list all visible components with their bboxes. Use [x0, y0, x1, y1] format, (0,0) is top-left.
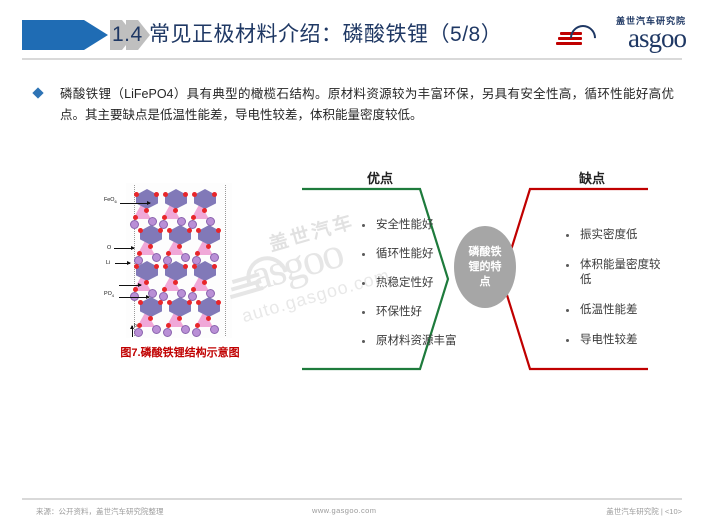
- list-item: 原材料资源丰富: [362, 334, 466, 349]
- label-po4: PO4: [104, 291, 114, 298]
- blue-arrow-icon: [22, 20, 108, 50]
- pointer-po4-lower: [119, 297, 149, 298]
- pointer-po4-upper: [119, 285, 141, 286]
- label-feo6: FeO6: [104, 197, 117, 204]
- cons-list: 振实密度低 体积能量密度较低 低温性能差 导电性较差: [526, 228, 670, 363]
- gasgoo-logo: 盖世汽车研究院 asgoo: [556, 14, 686, 54]
- header-arrow-band: [22, 20, 108, 50]
- slide-footer: 来源：公开资料，盖世汽车研究院整理 www.gasgoo.com 盖世汽车研究院…: [22, 505, 682, 521]
- list-item: 体积能量密度较低: [566, 258, 670, 288]
- list-item: 低温性能差: [566, 303, 670, 318]
- axis-indicator: b: [130, 323, 144, 337]
- list-item: 环保性好: [362, 305, 466, 320]
- diamond-bullet-icon: [32, 87, 43, 98]
- pointer-feo6: [120, 203, 150, 204]
- footer-divider: [22, 498, 682, 500]
- figure-caption: 图7.磷酸铁锂结构示意图: [104, 344, 256, 360]
- pros-cons-diagram: 优点 缺点 安全性能好 循环性能好 热稳定性好 环保性好 原材料资源丰富 振实密…: [286, 168, 690, 373]
- list-item: 安全性能好: [362, 218, 466, 233]
- footer-website: www.gasgoo.com: [312, 506, 376, 515]
- pros-list: 安全性能好 循环性能好 热稳定性好 环保性好 原材料资源丰富: [322, 218, 466, 363]
- pointer-li: [115, 263, 130, 264]
- center-topic-oval: 磷酸铁锂的特点: [454, 226, 516, 308]
- slide-header: 1.4 常见正极材料介绍：磷酸铁锂（5/8） 盖世汽车研究院 asgoo: [0, 0, 704, 66]
- page-title: 1.4 常见正极材料介绍：磷酸铁锂（5/8）: [112, 18, 552, 52]
- list-item: 循环性能好: [362, 247, 466, 262]
- header-divider: [22, 58, 682, 60]
- list-item: 导电性较差: [566, 333, 670, 348]
- pros-heading: 优点: [320, 168, 440, 187]
- label-o: O: [107, 245, 111, 251]
- crystal-structure-figure: FeO6 O Li PO4 b 图7.磷酸铁锂结构示意图: [104, 183, 256, 368]
- list-item: 振实密度低: [566, 228, 670, 243]
- lead-paragraph-block: 磷酸铁锂（LiFePO4）具有典型的橄榄石结构。原材料资源较为丰富环保，另具有安…: [34, 84, 674, 126]
- logo-wordmark: asgoo: [628, 23, 686, 53]
- cons-heading: 缺点: [532, 168, 652, 187]
- pointer-o: [114, 248, 134, 249]
- crystal-structure-image: [126, 183, 232, 338]
- lead-paragraph-text: 磷酸铁锂（LiFePO4）具有典型的橄榄石结构。原材料资源较为丰富环保，另具有安…: [60, 84, 674, 126]
- slide-canvas: 1.4 常见正极材料介绍：磷酸铁锂（5/8） 盖世汽车研究院 asgoo 磷酸铁…: [0, 0, 704, 526]
- label-li: Li: [106, 260, 110, 266]
- list-item: 热稳定性好: [362, 276, 466, 291]
- center-topic-label: 磷酸铁锂的特点: [465, 245, 505, 290]
- footer-source: 来源：公开资料，盖世汽车研究院整理: [36, 506, 164, 517]
- logo-arc-icon: [565, 20, 602, 57]
- footer-page-number: 盖世汽车研究院 | <10>: [606, 506, 682, 517]
